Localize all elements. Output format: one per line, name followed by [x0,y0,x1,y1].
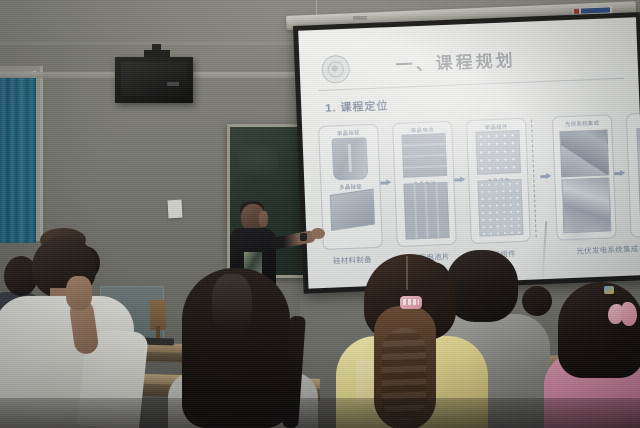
projection-screen: 一、课程规划 1. 课程定位 单晶硅锭 多晶硅锭 单晶电池 多 [298,17,640,288]
hair-clip [400,296,422,309]
caption-1: 硅材料制备 [321,254,383,267]
wall-paper-note [168,200,183,219]
poly-cell-thumb [403,182,449,240]
maintenance-site-thumb [636,127,640,231]
flow-arrow-1 [380,179,391,186]
window-curtain [0,78,36,243]
mono-cell-thumb [401,133,447,178]
poly-ingot-thumb [330,189,375,231]
student-white-shirt-hand [66,276,92,310]
flow-card-3: 单晶组件 多晶组件 [466,118,531,244]
student-right-back-head [522,286,552,316]
flow-section-divider [531,119,537,237]
mono-module-thumb [475,130,521,175]
flow-card-2: 单晶电池 多晶电池 [392,121,457,247]
slide-subtitle: 1. 课程定位 [325,97,389,116]
slide-title: 一、课程规划 [395,46,516,76]
student-yellow-shirt-hair-part [406,256,408,290]
screen-smudge-area [556,215,597,247]
presenter-wristwatch [300,233,307,241]
chalk-smudge [238,145,278,175]
foreground-shadow [0,398,640,428]
mono-ingot-thumb [332,137,369,180]
flow-arrow-4 [614,170,625,177]
university-seal-icon [321,55,350,84]
flow-card-4-top-label: 光伏系统集成 [553,118,611,128]
hair-bow [608,302,638,328]
solar-array-thumb [559,129,609,177]
student-pink-shirt-hair [558,282,640,378]
speaker-badge [167,82,179,86]
hair-pin-icon [604,286,614,294]
poly-module-thumb [477,179,523,237]
ceiling-speaker-box [115,57,193,103]
flow-arrow-3 [540,173,551,180]
classroom-photo: 一、课程规划 1. 课程定位 单晶硅锭 多晶硅锭 单晶电池 多 [0,0,640,428]
student-gray-shirt-hair [446,250,518,322]
presenter-hand [311,228,325,239]
flow-card-1: 单晶硅锭 多晶硅锭 [318,124,383,250]
flow-arrow-2 [454,176,465,183]
flow-card-5: 光伏运维 [626,111,640,237]
presentation-slide: 一、课程规划 1. 课程定位 单晶硅锭 多晶硅锭 单晶电池 多 [298,17,640,288]
flow-card-5-top-label: 光伏运维 [627,115,640,125]
screen-bracket [353,16,367,20]
presenter-face [259,211,268,227]
flow-card-1-top-label: 单晶硅锭 [319,128,377,138]
